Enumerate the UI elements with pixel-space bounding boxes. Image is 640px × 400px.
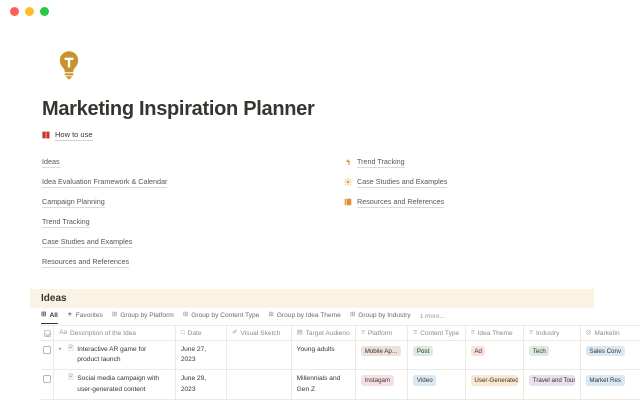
page-title: Marketing Inspiration Planner xyxy=(42,98,640,121)
cell-visual-sketch[interactable] xyxy=(227,341,292,369)
tab-label: Group by Content Type xyxy=(191,312,259,319)
text-lines-icon: ▤ xyxy=(297,330,303,336)
table-view-icon: ⊞ xyxy=(183,312,188,319)
link-label: Campaign Planning xyxy=(42,197,105,208)
column-header-platform[interactable]: ≡ Platform xyxy=(356,326,408,340)
database-view-tabs: ⊞ All ★ Favorites ⊞ Group by Platform ⊞ … xyxy=(41,308,640,325)
star-icon: ★ xyxy=(67,312,73,319)
cell-value: Young adults xyxy=(297,345,335,355)
table-view-icon: ⊞ xyxy=(268,312,273,319)
column-header-date[interactable]: □ Date xyxy=(176,326,227,340)
column-header-marketing[interactable]: ◎ Marketin xyxy=(581,326,640,340)
select-list-icon: ≡ xyxy=(413,330,417,336)
cell-description[interactable]: ▸ 🖹 Interactive AR game for product laun… xyxy=(54,341,176,369)
link-resources-card[interactable]: Resources and References xyxy=(344,195,600,209)
select-all-column-header[interactable] xyxy=(41,326,54,340)
circle-target-icon: ◎ xyxy=(586,330,592,336)
how-to-use-link[interactable]: How to use xyxy=(42,130,640,141)
ideas-table: Aa Description of the Idea □ Date ✐ Visu… xyxy=(41,325,640,400)
cell-description[interactable]: 🖹 Social media campaign with user-genera… xyxy=(54,370,176,398)
how-to-use-label: How to use xyxy=(55,130,93,141)
page-content: Marketing Inspiration Planner How to use… xyxy=(0,48,640,400)
table-header-row: Aa Description of the Idea □ Date ✐ Visu… xyxy=(41,326,640,341)
tab-label: Group by Platform xyxy=(120,312,174,319)
link-idea-evaluation-framework-calendar[interactable]: Idea Evaluation Framework & Calendar xyxy=(42,175,320,189)
tag-badge: Instagam xyxy=(361,375,393,385)
cell-visual-sketch[interactable] xyxy=(227,370,292,398)
link-trend-tracking-card[interactable]: Trend Tracking xyxy=(344,155,600,169)
link-label: Ideas xyxy=(42,157,60,168)
column-header-label: Visual Sketch xyxy=(240,330,280,337)
link-resources-and-references[interactable]: Resources and References xyxy=(42,255,320,269)
table-row[interactable]: ▸ 🖹 Interactive AR game for product laun… xyxy=(41,341,640,370)
tag-badge: Sales Conv xyxy=(586,346,625,356)
tag-badge: Post xyxy=(413,346,432,356)
cell-content-type[interactable]: Post xyxy=(408,341,465,369)
column-header-description[interactable]: Aa Description of the Idea xyxy=(54,326,176,340)
cell-marketing[interactable]: Market Res xyxy=(581,370,640,398)
link-trend-tracking[interactable]: Trend Tracking xyxy=(42,215,320,229)
page-doc-icon: 🖹 xyxy=(68,374,74,382)
link-label: Idea Evaluation Framework & Calendar xyxy=(42,177,167,188)
cell-platform[interactable]: Mobile Ap... xyxy=(356,341,408,369)
tag-badge: Mobile Ap... xyxy=(361,346,400,356)
link-label: Trend Tracking xyxy=(357,157,405,168)
cell-value: June 27, 2023 xyxy=(181,345,221,365)
tab-all[interactable]: ⊞ All xyxy=(41,309,58,324)
window-close-button[interactable] xyxy=(10,7,19,16)
table-view-icon: ⊞ xyxy=(350,312,355,319)
title-text-icon: Aa xyxy=(59,330,67,336)
page-doc-icon: 🖹 xyxy=(68,345,74,353)
up-arrow-icon xyxy=(344,158,352,166)
page-links-left-column: Ideas Idea Evaluation Framework & Calend… xyxy=(0,155,320,275)
cell-marketing[interactable]: Sales Conv xyxy=(581,341,640,369)
select-list-icon: ≡ xyxy=(471,330,475,336)
sparkle-sun-icon xyxy=(344,178,352,186)
tab-label: All xyxy=(49,312,57,319)
tag-badge: Travel and Touri... xyxy=(529,375,575,385)
column-header-idea-theme[interactable]: ≡ Idea Theme xyxy=(466,326,524,340)
cell-idea-theme[interactable]: Ad xyxy=(466,341,524,369)
tab-label: Group by Industry xyxy=(358,312,410,319)
window-maximize-button[interactable] xyxy=(40,7,49,16)
cell-value: Social media campaign with user-generate… xyxy=(77,374,170,394)
row-checkbox[interactable] xyxy=(43,375,51,383)
cell-target-audience[interactable]: Young adults xyxy=(292,341,357,369)
tag-badge: Ad xyxy=(471,346,486,356)
column-header-label: Date xyxy=(188,330,202,337)
select-list-icon: ≡ xyxy=(529,330,533,336)
cell-idea-theme[interactable]: User-Generated ... xyxy=(466,370,524,398)
column-header-label: Industry xyxy=(536,330,559,337)
tag-badge: Market Res xyxy=(586,375,625,385)
row-checkbox[interactable] xyxy=(43,346,51,354)
link-label: Resources and References xyxy=(42,257,129,268)
page-icon-lightbulb-icon[interactable] xyxy=(52,48,86,82)
tab-group-by-industry[interactable]: ⊞ Group by Industry xyxy=(350,309,411,324)
row-select-cell[interactable] xyxy=(41,370,54,398)
link-label: Resources and References xyxy=(357,197,444,208)
link-campaign-planning[interactable]: Campaign Planning xyxy=(42,195,320,209)
tab-group-by-idea-theme[interactable]: ⊞ Group by Idea Theme xyxy=(268,309,340,324)
page-links-right-column: Trend Tracking Case Studies and Example xyxy=(320,155,600,275)
cell-industry[interactable]: Tech xyxy=(524,341,581,369)
database-title-banner: Ideas xyxy=(30,289,594,308)
column-header-label: Platform xyxy=(368,330,393,337)
cell-date[interactable]: June 29, 2023 xyxy=(176,370,227,398)
column-header-label: Description of the Idea xyxy=(70,330,136,337)
tab-favorites[interactable]: ★ Favorites xyxy=(67,309,103,324)
orange-notebook-icon xyxy=(344,198,352,206)
column-header-content-type[interactable]: ≡ Content Type xyxy=(408,326,465,340)
cell-date[interactable]: June 27, 2023 xyxy=(176,341,227,369)
window-minimize-button[interactable] xyxy=(25,7,34,16)
tag-badge: Tech xyxy=(529,346,549,356)
link-case-studies-and-examples[interactable]: Case Studies and Examples xyxy=(42,235,320,249)
cell-value: Millennials and Gen Z xyxy=(297,374,351,394)
cell-value: Interactive AR game for product launch xyxy=(77,345,170,365)
select-list-icon: ≡ xyxy=(361,330,365,336)
link-label: Case Studies and Examples xyxy=(357,177,447,188)
tab-group-by-content-type[interactable]: ⊞ Group by Content Type xyxy=(183,309,260,324)
column-header-target-audience[interactable]: ▤ Target Audience xyxy=(292,326,357,340)
link-label: Trend Tracking xyxy=(42,217,90,228)
table-view-icon: ⊞ xyxy=(41,312,46,319)
cell-value: June 29, 2023 xyxy=(181,374,221,394)
tab-label: Group by Idea Theme xyxy=(277,312,341,319)
link-label: Case Studies and Examples xyxy=(42,237,132,248)
database-title: Ideas xyxy=(41,293,67,304)
tag-badge: User-Generated ... xyxy=(471,375,518,385)
column-header-visual-sketch[interactable]: ✐ Visual Sketch xyxy=(227,326,292,340)
column-header-label: Marketin xyxy=(594,330,619,337)
column-header-label: Content Type xyxy=(420,330,459,337)
column-header-industry[interactable]: ≡ Industry xyxy=(524,326,581,340)
tab-group-by-platform[interactable]: ⊞ Group by Platform xyxy=(112,309,174,324)
expand-caret-icon[interactable]: ▸ xyxy=(59,345,65,353)
table-row[interactable]: 🖹 Social media campaign with user-genera… xyxy=(41,370,640,399)
calendar-icon: □ xyxy=(181,330,185,336)
link-ideas[interactable]: Ideas xyxy=(42,155,320,169)
column-header-label: Idea Theme xyxy=(478,330,513,337)
window-titlebar xyxy=(0,0,640,22)
cell-target-audience[interactable]: Millennials and Gen Z xyxy=(292,370,357,398)
link-case-studies-card[interactable]: Case Studies and Examples xyxy=(344,175,600,189)
more-views-button[interactable]: 1 more... xyxy=(420,313,445,320)
row-select-cell[interactable] xyxy=(41,341,54,369)
cell-content-type[interactable]: Video xyxy=(408,370,465,398)
cell-platform[interactable]: Instagam xyxy=(356,370,408,398)
page-links-section: Ideas Idea Evaluation Framework & Calend… xyxy=(0,155,640,275)
column-header-label: Target Audience xyxy=(306,330,351,337)
paperclip-icon: ✐ xyxy=(232,330,237,336)
cell-industry[interactable]: Travel and Touri... xyxy=(524,370,581,398)
red-book-icon xyxy=(42,131,50,141)
select-all-checkbox[interactable] xyxy=(44,330,51,337)
table-view-icon: ⊞ xyxy=(112,312,117,319)
tab-label: Favorites xyxy=(76,312,103,319)
tag-badge: Video xyxy=(413,375,436,385)
